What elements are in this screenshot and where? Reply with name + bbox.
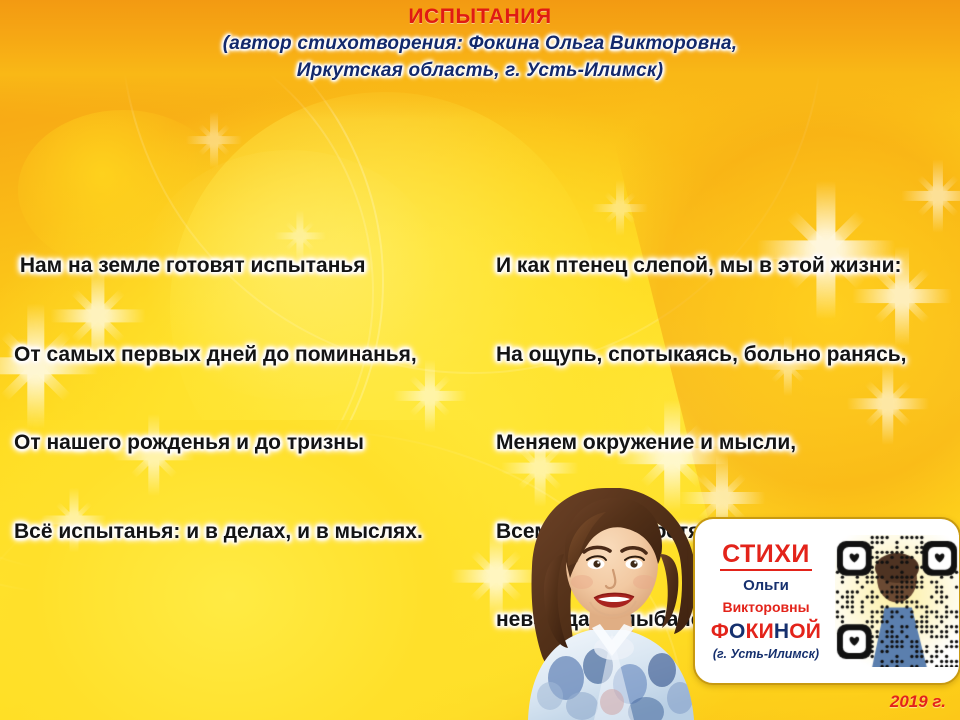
poem-stanza: Вот первые шаги – и вдруг паденья, Вот п… [14,691,435,720]
poem-line: Меняем окружение и мысли, [496,428,907,458]
poem-poster: ИСПЫТАНИЯ (автор стихотворения: Фокина О… [0,0,960,720]
poem-line: От нашего рожденья и до тризны [14,428,435,458]
badge-text-block: СТИХИ Ольги Викторовны ФОКИНОЙ (г. Усть-… [695,519,835,683]
poem-line: Нам на земле готовят испытанья [14,251,435,281]
year-label: 2019 г. [890,692,946,712]
poem-stanza: Нам на земле готовят испытанья От самых … [14,192,435,605]
poem-line: От самых первых дней до поминанья, [14,340,435,370]
author-line-1: (автор стихотворения: Фокина Ольга Викто… [0,30,960,57]
poem-line: Всё испытанья: и в делах, и в мыслях. [14,517,435,547]
badge-surname: ФОКИНОЙ [701,619,831,644]
author-line-2: Иркутская область, г. Усть-Илимск) [0,57,960,84]
badge-qr-area[interactable] [835,519,959,683]
qr-code-with-heart-finder-patterns[interactable] [835,535,959,667]
page-title: ИСПЫТАНИЯ [0,4,960,30]
badge-patronymic: Викторовны [701,598,831,617]
author-badge[interactable]: СТИХИ Ольги Викторовны ФОКИНОЙ (г. Усть-… [693,517,960,685]
poem-line: И как птенец слепой, мы в этой жизни: [496,251,907,281]
poster-header: ИСПЫТАНИЯ (автор стихотворения: Фокина О… [0,4,960,84]
poem-line: На ощупь, спотыкаясь, больно ранясь, [496,340,907,370]
badge-city: (г. Усть-Илимск) [701,646,831,663]
poem-left-column: Нам на земле готовят испытанья От самых … [14,133,435,720]
badge-first-name: Ольги [701,576,831,596]
portrait-of-olga-fokina [494,470,718,720]
badge-title: СТИХИ [720,541,812,571]
